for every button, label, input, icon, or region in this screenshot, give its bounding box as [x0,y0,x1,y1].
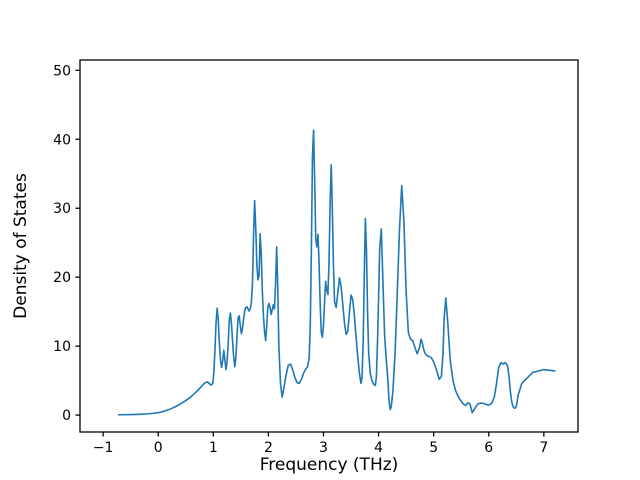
y-tick-label: 40 [53,132,71,148]
x-tick-label: 1 [209,440,218,456]
y-tick-label: 50 [53,63,71,79]
x-tick-label: 4 [374,440,383,456]
y-tick-label: 30 [53,201,71,217]
x-tick-label: 7 [539,440,548,456]
figure-canvas: −101234567 01020304050 Frequency (THz) D… [0,0,640,480]
x-tick-label: 0 [154,440,163,456]
x-axis-ticks: −101234567 [93,432,548,456]
x-axis-label: Frequency (THz) [260,455,399,475]
y-axis-ticks: 01020304050 [53,63,80,424]
x-tick-label: −1 [93,440,114,456]
y-tick-label: 0 [62,408,71,424]
y-tick-label: 20 [53,270,71,286]
dos-curve [119,130,555,414]
y-axis-label: Density of States [11,173,31,319]
x-tick-label: 6 [484,440,493,456]
y-tick-label: 10 [53,339,71,355]
dos-plot: −101234567 01020304050 Frequency (THz) D… [0,0,640,480]
x-tick-label: 3 [319,440,328,456]
x-tick-label: 5 [429,440,438,456]
x-tick-label: 2 [264,440,273,456]
